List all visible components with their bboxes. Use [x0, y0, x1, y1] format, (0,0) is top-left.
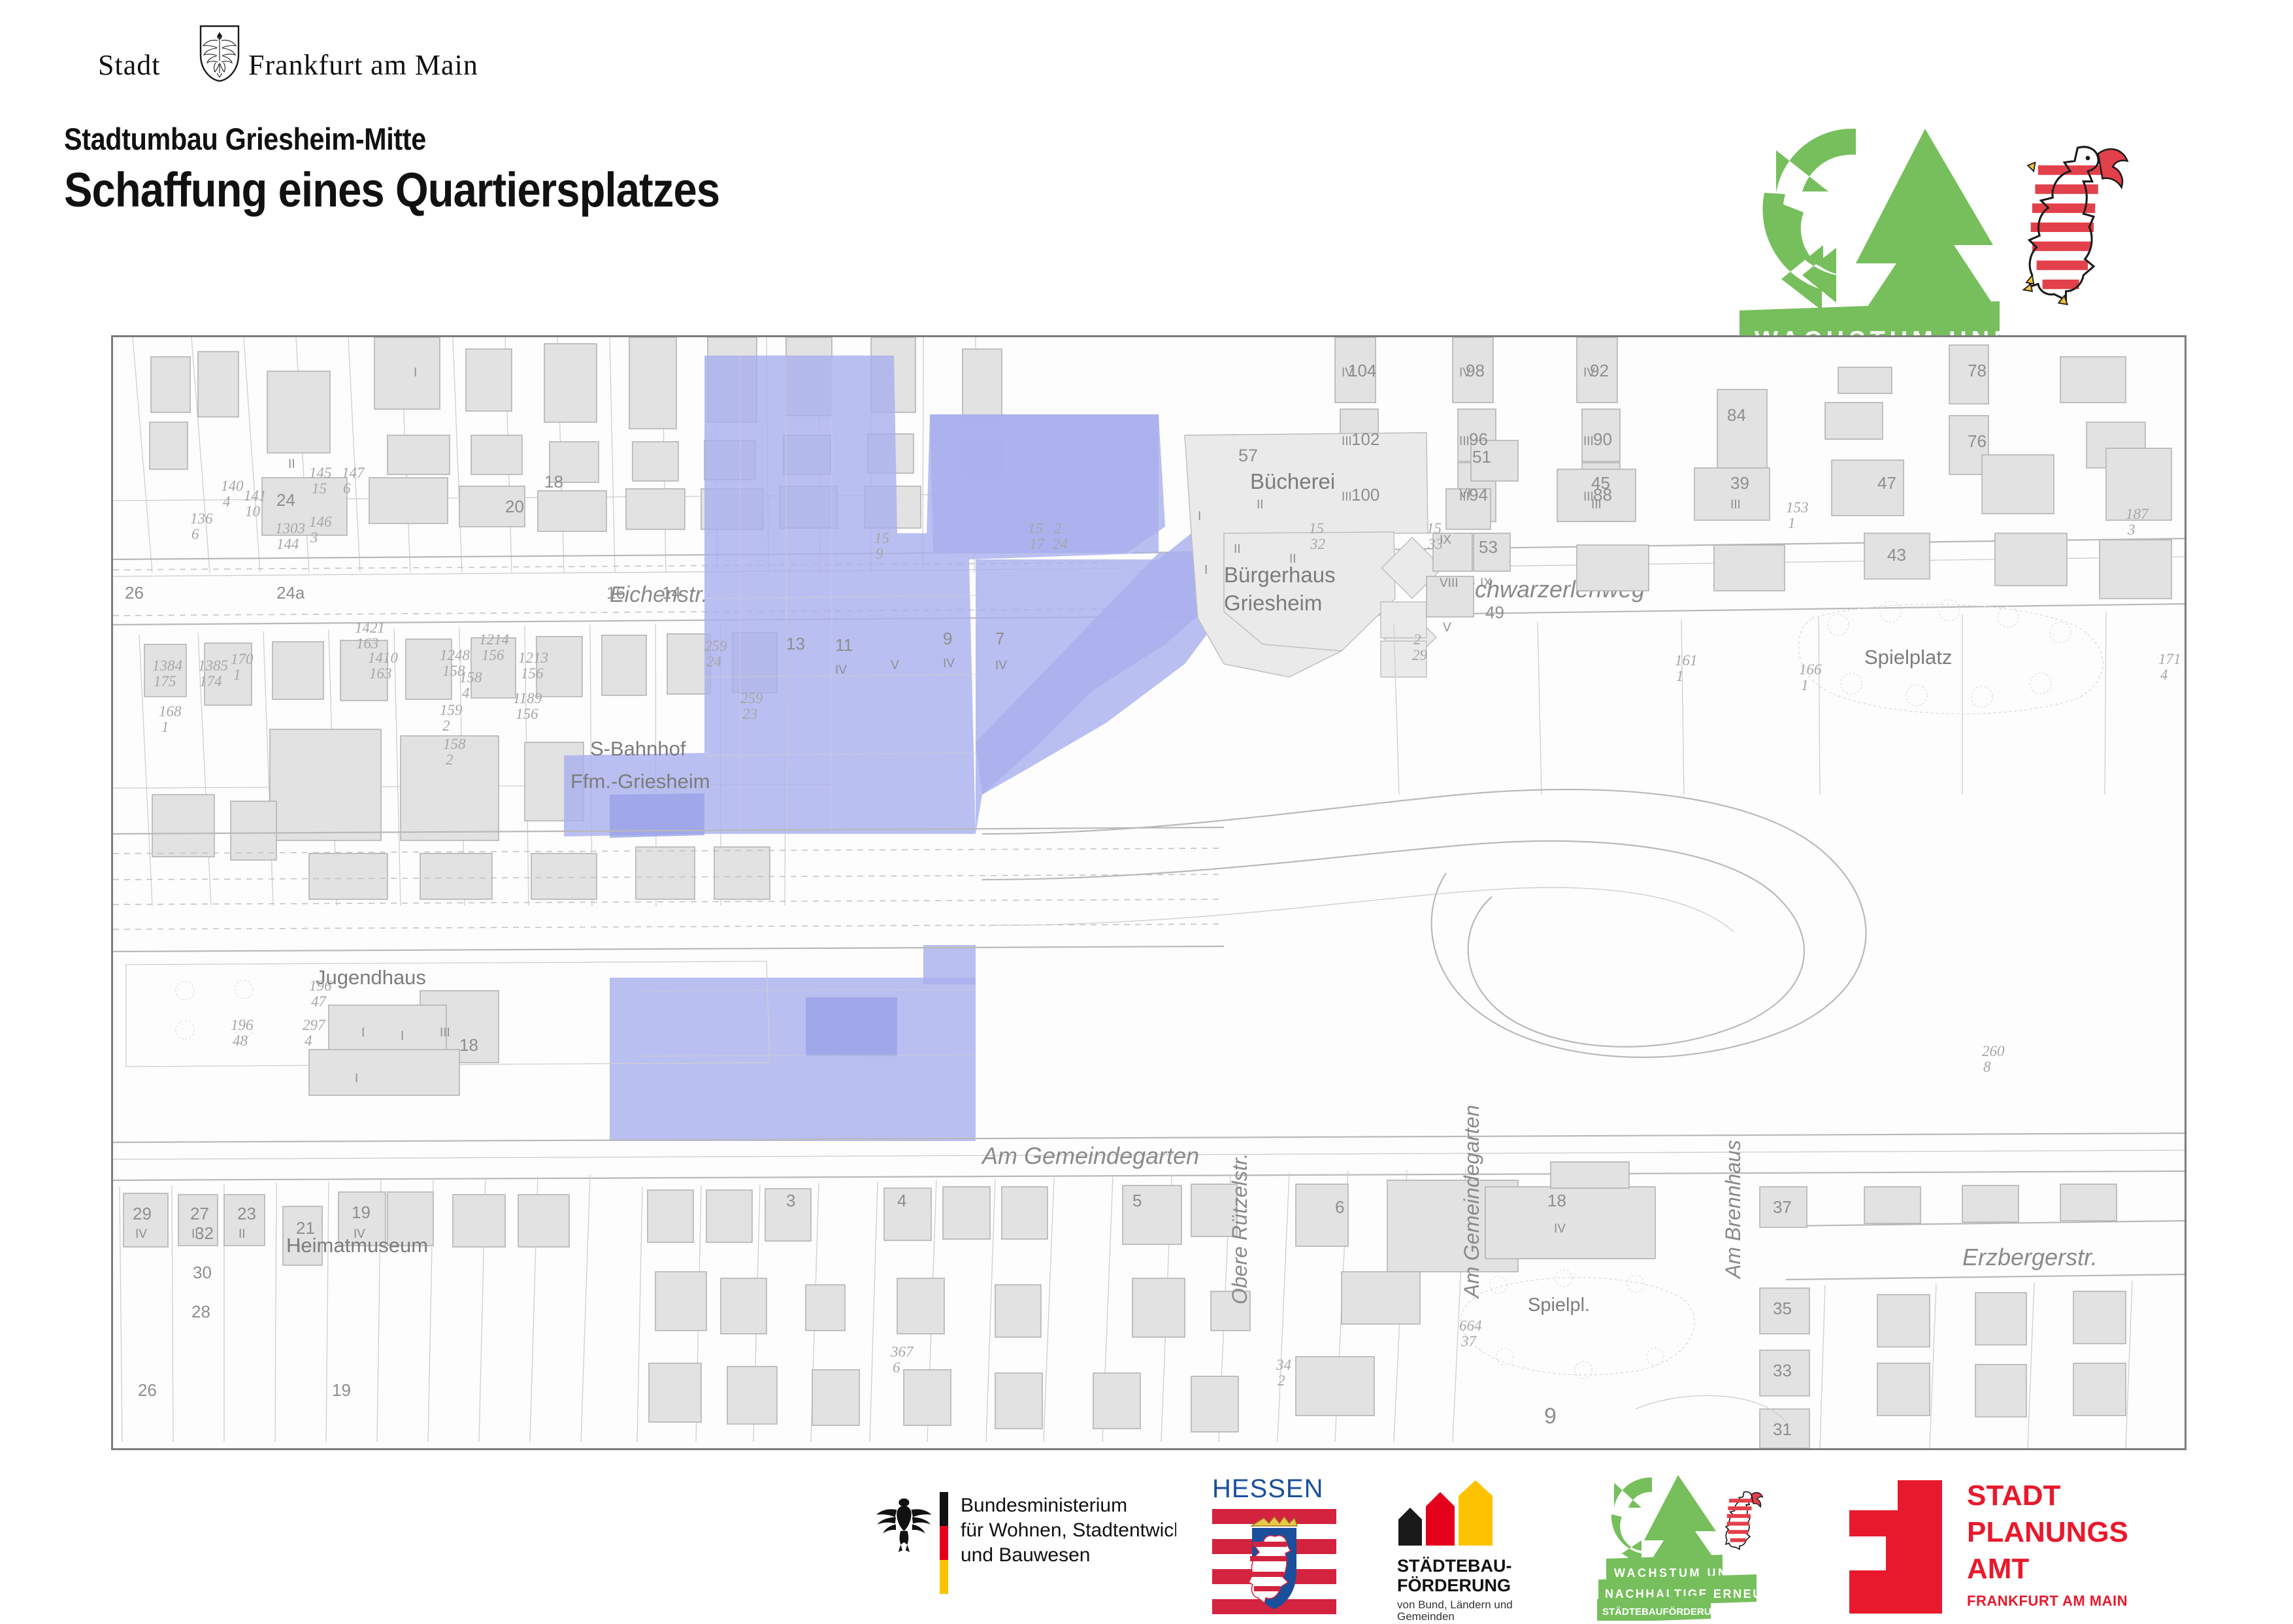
svg-text:159: 159: [440, 702, 463, 718]
svg-text:26: 26: [125, 583, 144, 603]
green-tree-arrow-icon-small: [1644, 1475, 1719, 1565]
svg-text:166: 166: [1799, 661, 1822, 678]
city-logo-word-frankfurt: Frankfurt am Main: [248, 48, 478, 82]
svg-text:1214: 1214: [479, 631, 509, 648]
loop-road: [982, 789, 1866, 1057]
svg-text:140: 140: [221, 478, 244, 494]
svg-text:158: 158: [459, 669, 482, 686]
bmwsb-line1: Bundesministerium: [961, 1495, 1127, 1516]
svg-text:43: 43: [1887, 545, 1906, 565]
svg-text:1248: 1248: [440, 647, 470, 663]
place-label-sbahnhof: S-Bahnhof: [590, 737, 686, 760]
svg-text:8: 8: [1983, 1059, 1991, 1075]
city-logo-wordmark: Stadt Frankfurt am Main: [98, 39, 516, 78]
svg-text:163: 163: [369, 665, 392, 682]
svg-text:146: 146: [309, 514, 332, 530]
wachstum-logo-footer: WACHSTUM UND NACHHALTIGE ERNEUERUNG STÄD…: [1594, 1474, 1797, 1621]
svg-text:15: 15: [1309, 520, 1324, 537]
hessen-logo: HESSEN: [1212, 1474, 1343, 1621]
svg-text:367: 367: [890, 1344, 914, 1360]
title-block: Stadtumbau Griesheim-Mitte Schaffung ein…: [64, 121, 809, 218]
street-label-am-brennhaus: Am Brennhaus: [1721, 1140, 1745, 1280]
svg-text:III: III: [440, 1026, 450, 1040]
station-building: [309, 1005, 459, 1095]
svg-text:I: I: [401, 1029, 404, 1043]
svg-text:9: 9: [943, 629, 952, 648]
svg-text:13: 13: [786, 634, 805, 654]
svg-text:102: 102: [1351, 429, 1379, 449]
svg-text:6: 6: [191, 526, 199, 542]
svg-text:III: III: [1342, 490, 1352, 504]
svg-text:I: I: [1204, 563, 1208, 577]
svg-text:84: 84: [1727, 405, 1746, 425]
svg-text:90: 90: [1593, 429, 1612, 449]
svg-text:15: 15: [312, 480, 327, 497]
svg-text:174: 174: [199, 673, 222, 689]
svg-text:4: 4: [897, 1191, 906, 1210]
svg-text:260: 260: [1982, 1043, 2005, 1059]
svg-text:53: 53: [1479, 537, 1498, 557]
svg-text:I: I: [414, 366, 417, 380]
svg-text:19: 19: [352, 1202, 371, 1222]
svg-text:23: 23: [237, 1204, 256, 1223]
stadtplanungsamt-mark-icon: [1849, 1480, 1942, 1614]
bundesadler-icon: [876, 1499, 931, 1552]
page-subtitle: Stadtumbau Griesheim-Mitte: [64, 121, 719, 157]
svg-text:I: I: [297, 1242, 301, 1255]
place-label-ffm-griesheim: Ffm.-Griesheim: [570, 770, 710, 793]
svg-text:144: 144: [276, 536, 299, 552]
svg-text:5: 5: [1132, 1191, 1142, 1210]
svg-text:II: II: [1257, 498, 1264, 512]
svg-text:48: 48: [233, 1033, 248, 1049]
svg-text:6: 6: [893, 1359, 900, 1376]
svg-text:15: 15: [1028, 520, 1043, 537]
svg-text:IV: IV: [1583, 366, 1595, 380]
svg-text:II: II: [1234, 542, 1241, 556]
svg-text:III: III: [1730, 498, 1741, 512]
place-label-jugendhaus: Jugendhaus: [316, 966, 426, 989]
house-number-18-spielpl: 18: [1547, 1191, 1566, 1210]
svg-text:1189: 1189: [513, 690, 542, 706]
svg-text:3: 3: [310, 529, 318, 546]
svg-text:96: 96: [1469, 429, 1488, 449]
svg-text:156: 156: [482, 647, 504, 663]
svg-text:17: 17: [1029, 536, 1046, 552]
svg-text:1421: 1421: [355, 620, 385, 636]
svg-text:16: 16: [606, 583, 625, 603]
staedtebaufoerderung-logo: STÄDTEBAU- FÖRDERUNG von Bund, Ländern u…: [1392, 1474, 1549, 1621]
hessen-lion-icon-small: [1726, 1492, 1762, 1549]
house-number-57: 57: [1238, 446, 1258, 465]
svg-text:IV: IV: [135, 1227, 147, 1241]
recycle-arrow-icon: [1762, 129, 1856, 310]
svg-text:33: 33: [1773, 1361, 1792, 1380]
svg-text:168: 168: [159, 703, 182, 720]
staedtebau-line2: FÖRDERUNG: [1397, 1576, 1511, 1595]
svg-text:145: 145: [309, 465, 332, 481]
svg-text:47: 47: [311, 993, 327, 1010]
svg-text:664: 664: [1459, 1317, 1482, 1334]
svg-text:1: 1: [233, 667, 241, 683]
svg-text:2: 2: [1054, 520, 1062, 537]
svg-text:IV: IV: [354, 1227, 365, 1241]
page-title: Schaffung eines Quartiersplatzes: [64, 162, 719, 218]
staedtebau-line1: STÄDTEBAU-: [1397, 1556, 1512, 1576]
svg-text:7: 7: [995, 629, 1004, 648]
footer-wachstum-line3: STÄDTEBAUFÖRDERUNG HESSEN: [1602, 1606, 1769, 1617]
svg-text:4: 4: [462, 685, 470, 701]
svg-text:1410: 1410: [368, 650, 399, 666]
city-logo: Stadt Frankfurt am Main: [98, 31, 516, 84]
svg-text:1385: 1385: [198, 657, 228, 674]
svg-text:94: 94: [1469, 485, 1488, 505]
place-label-buergerhaus: Bürgerhaus: [1224, 563, 1336, 587]
map-canvas: Eichenstr. Schwarzerlenweg: [113, 337, 2185, 1448]
svg-text:I: I: [355, 1072, 358, 1085]
svg-text:4: 4: [223, 493, 231, 510]
svg-text:14: 14: [662, 583, 681, 603]
stadtplanungsamt-logo: STADT PLANUNGS AMT FRANKFURT AM MAIN: [1830, 1474, 2169, 1621]
svg-text:2: 2: [442, 718, 450, 734]
svg-text:35: 35: [1773, 1299, 1792, 1318]
svg-text:156: 156: [516, 706, 538, 722]
bundesministerium-logo: Bundesministerium für Wohnen, Stadtentwi…: [869, 1474, 1176, 1621]
svg-text:136: 136: [190, 510, 213, 527]
spa-line3: AMT: [1967, 1553, 2029, 1585]
street-label-am-gemeindegarten-horizontal: Am Gemeindegarten: [981, 1142, 1199, 1169]
svg-text:20: 20: [505, 497, 524, 516]
svg-text:I: I: [361, 1026, 365, 1040]
recycle-arrow-icon-small: [1611, 1478, 1652, 1566]
svg-text:19: 19: [332, 1380, 351, 1400]
bmwsb-line3: und Bauwesen: [961, 1544, 1091, 1566]
svg-text:29: 29: [133, 1204, 152, 1223]
footer-logo-bar: Bundesministerium für Wohnen, Stadtentwi…: [0, 1474, 2293, 1621]
staedtebau-sub2: Gemeinden: [1397, 1610, 1455, 1621]
svg-text:32: 32: [1310, 536, 1325, 552]
svg-text:45: 45: [1591, 473, 1610, 493]
svg-text:187: 187: [2126, 506, 2149, 522]
svg-text:39: 39: [1730, 473, 1749, 493]
bmwsb-line2: für Wohnen, Stadtentwicklung: [961, 1519, 1176, 1541]
spa-line2: PLANUNGS: [1967, 1516, 2128, 1548]
svg-text:175: 175: [154, 673, 176, 689]
svg-text:II: II: [1289, 552, 1296, 566]
place-label-spielpl: Spielpl.: [1528, 1295, 1590, 1316]
hessen-label: HESSEN: [1212, 1474, 1324, 1503]
cadastral-lot-lines-east: [1394, 612, 2106, 795]
hessen-lion-icon: [2023, 147, 2127, 305]
site-plan-map[interactable]: Eichenstr. Schwarzerlenweg: [111, 335, 2186, 1450]
svg-text:37: 37: [1460, 1333, 1477, 1350]
map-point-marker: 9: [1544, 1404, 1557, 1429]
svg-text:1384: 1384: [152, 657, 182, 674]
svg-text:37: 37: [1773, 1197, 1792, 1217]
svg-text:IV: IV: [835, 663, 847, 677]
svg-text:147: 147: [342, 465, 365, 481]
street-label-am-gemeindegarten-vertical: Am Gemeindegarten: [1460, 1105, 1483, 1299]
svg-text:49: 49: [1485, 603, 1504, 622]
city-logo-word-stadt: Stadt: [98, 48, 160, 82]
svg-text:I: I: [1198, 510, 1201, 523]
svg-text:47: 47: [1877, 473, 1896, 493]
spa-line1: STADT: [1967, 1480, 2061, 1512]
svg-text:6: 6: [343, 480, 351, 497]
svg-text:196: 196: [309, 978, 332, 994]
svg-text:IV: IV: [943, 657, 955, 671]
svg-text:28: 28: [191, 1302, 210, 1321]
svg-text:4: 4: [305, 1033, 312, 1049]
place-label-spielplatz: Spielplatz: [1864, 646, 1952, 669]
svg-text:158: 158: [443, 736, 466, 752]
svg-text:II: II: [239, 1227, 246, 1241]
svg-text:9: 9: [876, 546, 883, 562]
svg-text:IX: IX: [1480, 576, 1492, 590]
svg-text:4: 4: [2160, 667, 2168, 683]
svg-text:2: 2: [1278, 1372, 1285, 1389]
svg-text:6: 6: [1335, 1197, 1344, 1217]
svg-text:156: 156: [521, 665, 544, 682]
svg-text:1: 1: [1801, 677, 1809, 693]
svg-text:V: V: [891, 659, 899, 672]
svg-text:76: 76: [1968, 431, 1987, 451]
svg-text:II: II: [191, 1227, 199, 1241]
svg-text:29: 29: [1412, 647, 1428, 663]
svg-text:3: 3: [786, 1191, 795, 1210]
svg-text:24: 24: [706, 654, 721, 670]
spa-sub: FRANKFURT AM MAIN: [1967, 1593, 2128, 1609]
hessen-coat-of-arms-icon: [1212, 1509, 1336, 1614]
svg-text:VI: VI: [1459, 487, 1471, 501]
svg-text:10: 10: [245, 503, 261, 520]
svg-text:51: 51: [1472, 447, 1491, 467]
svg-text:153: 153: [1786, 499, 1809, 516]
svg-text:VIII: VIII: [1440, 576, 1459, 590]
svg-text:26: 26: [138, 1380, 157, 1400]
svg-text:170: 170: [231, 651, 254, 667]
svg-text:2: 2: [446, 752, 454, 768]
svg-text:1: 1: [161, 719, 169, 735]
svg-text:100: 100: [1351, 485, 1379, 505]
place-label-buecherei: Bücherei: [1250, 469, 1335, 493]
svg-text:11: 11: [835, 635, 853, 655]
svg-text:297: 297: [303, 1017, 326, 1033]
svg-text:IV: IV: [1459, 366, 1471, 380]
svg-text:III: III: [1459, 435, 1470, 448]
svg-text:IV: IV: [1342, 366, 1353, 380]
staedtebau-sub1: von Bund, Ländern und: [1397, 1599, 1513, 1611]
svg-text:II: II: [288, 457, 295, 471]
svg-text:1: 1: [1788, 515, 1796, 531]
svg-text:141: 141: [244, 488, 267, 504]
svg-text:III: III: [1591, 498, 1602, 512]
svg-text:30: 30: [193, 1263, 212, 1282]
svg-text:1303: 1303: [275, 520, 305, 537]
svg-text:15: 15: [874, 530, 889, 546]
svg-text:24a: 24a: [276, 583, 305, 603]
street-label-erzbergerstr: Erzbergerstr.: [1962, 1244, 2098, 1270]
svg-text:2: 2: [1413, 631, 1421, 648]
house-number-18-jugendhaus: 18: [459, 1035, 478, 1055]
south-central-blocks: [637, 1168, 1518, 1442]
svg-text:18: 18: [544, 472, 563, 491]
svg-text:31: 31: [1773, 1419, 1792, 1439]
green-tree-arrow-icon: [1856, 129, 2000, 314]
svg-text:3: 3: [2127, 522, 2136, 538]
svg-text:V: V: [1443, 621, 1451, 635]
svg-text:23: 23: [742, 706, 757, 722]
place-label-griesheim: Griesheim: [1224, 591, 1322, 615]
svg-text:34: 34: [1276, 1357, 1291, 1373]
street-label-obere-ruetzelstr: Obere Rützelstr.: [1228, 1153, 1251, 1304]
three-houses-icon: [1398, 1480, 1493, 1546]
svg-text:21: 21: [296, 1218, 315, 1238]
svg-text:196: 196: [231, 1017, 254, 1033]
svg-text:III: III: [1342, 435, 1352, 448]
svg-text:24: 24: [276, 490, 295, 510]
svg-text:27: 27: [190, 1204, 209, 1223]
svg-text:171: 171: [2158, 651, 2181, 667]
svg-text:IV: IV: [1554, 1222, 1566, 1236]
svg-text:161: 161: [1675, 652, 1698, 669]
svg-text:78: 78: [1968, 361, 1987, 380]
svg-text:163: 163: [356, 635, 379, 652]
svg-text:259: 259: [704, 638, 727, 654]
svg-text:III: III: [1583, 435, 1594, 448]
svg-text:259: 259: [740, 690, 763, 706]
svg-text:IX: IX: [1440, 533, 1451, 547]
svg-text:1213: 1213: [518, 650, 548, 666]
svg-text:IV: IV: [995, 659, 1007, 672]
svg-text:24: 24: [1053, 536, 1068, 552]
svg-text:1: 1: [1676, 668, 1684, 684]
